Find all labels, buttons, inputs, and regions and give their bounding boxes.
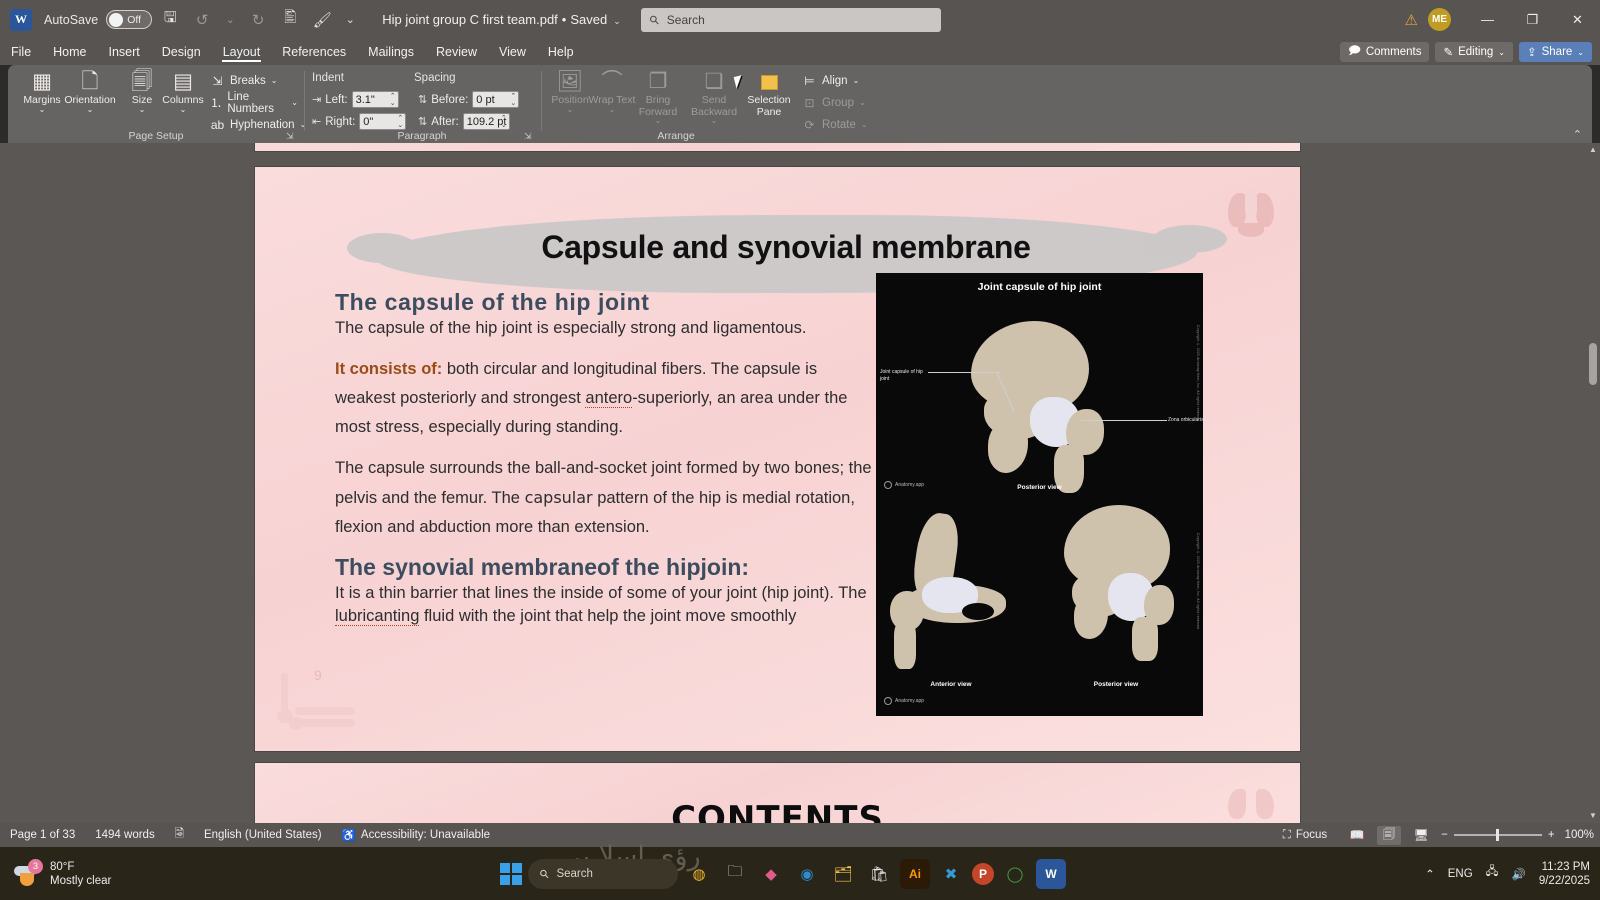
document-title[interactable]: Hip joint group C first team.pdf•Saved⌄ [382,12,621,27]
zoom-thumb[interactable] [1496,829,1499,841]
send-backward-icon: ❏ [705,69,724,95]
taskbar-search-placeholder: Search [556,868,592,880]
weather-temp: 80°F [50,860,111,874]
position-button[interactable]: 🖼 Position ⌄ [546,69,594,127]
saved-status: Saved [570,12,607,27]
scrollbar-thumb[interactable] [1589,343,1597,385]
language-indicator[interactable]: ENG [1448,868,1473,880]
web-layout-button[interactable]: 🖥 [1409,826,1433,845]
clock[interactable]: 11:23 PM 9/22/2025 [1539,860,1590,888]
orientation-chevron-down-icon: ⌄ [87,107,94,113]
folder-icon[interactable]: 🗂 [828,859,858,889]
undo-dropdown-icon[interactable]: ⌄ [220,6,240,34]
print-layout-button[interactable]: 🗐 [1377,826,1401,845]
proofing-errors-icon[interactable]: 🗟 [165,823,194,847]
status-page-info[interactable]: Page 1 of 33 [0,823,85,847]
document-canvas[interactable]: Capsule and synovial membrane The capsul… [0,143,1600,823]
leader-line-left [928,372,1000,373]
spacing-after-row: ⇅ After: 109.2 pt ⌃⌄ [418,113,510,130]
figure-title: Joint capsule of hip joint [876,281,1203,293]
vscode-icon[interactable]: ✖ [936,859,966,889]
tab-view[interactable]: View [488,39,537,65]
wrap-text-icon: ⌒ [602,69,623,95]
rotate-button[interactable]: ⟳ Rotate ⌄ [802,114,868,135]
clock-time: 11:23 PM [1539,860,1590,874]
accessibility-label: Accessibility: Unavailable [361,829,490,841]
weather-desc: Mostly clear [50,874,111,888]
indent-right-input[interactable]: 0" ⌃⌄ [359,113,406,130]
paragraph-4-text-b: fluid with the joint that help the joint… [419,607,796,625]
rotate-chevron-down-icon: ⌄ [861,120,868,129]
figure-caption-posterior-bottom: Posterior view [1056,681,1176,688]
tab-design[interactable]: Design [151,39,212,65]
spacing-header: Spacing [414,72,456,84]
size-chevron-down-icon: ⌄ [139,107,146,113]
network-icon[interactable]: 🖧 [1486,864,1499,883]
print-preview-icon[interactable]: 🖺 [276,6,304,34]
document-name: Hip joint group C first team.pdf [382,12,558,27]
paragraph-2-lead: It consists of: [335,360,442,378]
indent-left-value: 3.1" [356,94,375,106]
ribbon-group-paragraph: Indent Spacing ⇥ Left: 3.1" ⌃⌄ ⇤ Right: … [308,65,536,143]
tray-chevron-up-icon[interactable]: ⌃ [1425,867,1435,881]
hyphenation-label: Hyphenation [230,119,295,131]
tab-layout[interactable]: Layout [212,39,272,65]
chrome-icon[interactable]: ◯ [1000,859,1030,889]
editing-chevron-down-icon: ⌄ [1498,48,1505,57]
columns-icon: ▤ [173,69,193,95]
position-chevron-down-icon: ⌄ [567,107,574,113]
illustrator-icon[interactable]: Ai [900,859,930,889]
ribbon: ▦ Margins ⌄ 🗋 Orientation ⌄ 🗐 Size ⌄ ▤ C… [8,65,1592,143]
figure-brand-label-top: Anatomy.app [895,482,924,488]
comment-icon: 🗩 [1348,43,1361,62]
page-previous-bottom [255,143,1300,151]
line-numbers-label: Line Numbers [227,91,286,115]
group-label: Group [822,97,854,109]
spacing-after-input[interactable]: 109.2 pt ⌃⌄ [463,113,510,130]
undo-icon[interactable]: ↺ [188,6,216,34]
focus-button[interactable]: ⛶ Focus [1273,823,1337,847]
weather-text: 80°F Mostly clear [50,860,111,888]
ribbon-separator-1 [304,71,305,131]
orientation-icon: 🗋 [82,69,99,95]
share-chevron-down-icon: ⌄ [1577,48,1584,57]
focus-icon: ⛶ [1283,829,1291,842]
next-page-title: CONTENTS [255,799,1300,823]
figure-brand-top: Anatomy.app [884,481,924,489]
search-input[interactable]: ⚲ Search [641,8,941,32]
page-setup-group-label: Page Setup [14,130,298,142]
figure-label-joint-capsule: Joint capsule of hip joint [880,369,928,383]
autosave-state: Off [127,14,141,26]
indent-left-label: Left: [325,94,347,106]
figure-copyright-bottom: Copyright © 2023 Anatomy Next, Inc. All … [1196,533,1200,653]
paragraph-2: It consists of: both circular and longit… [335,355,880,442]
close-button[interactable]: ✕ [1555,0,1600,39]
indent-right-icon: ⇤ [312,115,321,128]
pelvis-decoration-next [1224,785,1278,823]
paragraph-group-label: Paragraph [308,130,536,142]
edge-icon[interactable]: ◉ [792,859,822,889]
weather-widget[interactable]: 3 80°F Mostly clear [14,860,111,888]
heading-synovial: The synovial membraneof the hipjoin: [335,554,880,581]
page-number: 9 [314,667,322,683]
page-current[interactable]: Capsule and synovial membrane The capsul… [255,167,1300,751]
focus-label: Focus [1296,829,1327,841]
document-body[interactable]: The capsule of the hip joint The capsule… [335,289,880,641]
indent-right-label: Right: [325,116,355,128]
widgets-icon[interactable]: ◍ [684,859,714,889]
weather-badge: 3 [28,859,43,874]
customize-quick-access-icon[interactable]: ⌄ [340,6,360,34]
align-label: Align [822,75,848,87]
margins-chevron-down-icon: ⌄ [39,107,46,113]
bring-forward-icon: ❐ [649,69,668,95]
group-chevron-down-icon: ⌄ [859,98,866,107]
editing-button[interactable]: ✎ Editing ⌄ [1435,42,1513,62]
weather-icon: 3 [14,861,42,887]
tab-insert[interactable]: Insert [98,39,151,65]
search-placeholder: Search [667,13,705,27]
page-next[interactable]: CONTENTS [255,763,1300,823]
indent-left-input[interactable]: 3.1" ⌃⌄ [352,91,399,108]
microsoft-store-icon[interactable]: 🛍 [864,859,894,889]
zoom-slider[interactable]: − + 100% [1441,829,1594,841]
comments-button[interactable]: 🗩 Comments [1340,42,1429,62]
indent-right-stepper[interactable]: ⌃⌄ [397,115,403,129]
spacing-before-stepper[interactable]: ⌃⌄ [510,93,516,107]
zoom-level[interactable]: 100% [1565,829,1594,841]
tab-row-actions: 🗩 Comments ✎ Editing ⌄ ⇪ Share ⌄ [1340,39,1592,65]
paragraph-1: The capsule of the hip joint is especial… [335,317,880,341]
rotate-icon: ⟳ [802,118,817,132]
redo-icon[interactable]: ↻ [244,6,272,34]
tab-references[interactable]: References [271,39,357,65]
ribbon-separator-2 [541,71,542,131]
paragraph-4-misspelled: lubricanting [335,607,419,626]
powerpoint-icon[interactable]: P [972,863,994,885]
search-icon: ⚲ [646,12,662,28]
paragraph-2-misspelled: antero [585,389,632,408]
ribbon-collapse-icon[interactable]: ⌃ [1573,128,1582,141]
share-label: Share [1542,46,1573,58]
warning-icon[interactable]: ⚠ [1405,11,1418,29]
paragraph-4-text-a: It is a thin barrier that lines the insi… [335,584,867,602]
spacing-after-label: After: [431,116,458,128]
format-painter-icon[interactable]: 🖌 [308,6,336,34]
wrap-text-button[interactable]: ⌒ Wrap Text ⌄ [588,69,636,127]
titlebar-right-controls: ⚠ ME — ❐ ✕ [1405,0,1600,39]
line-numbers-button[interactable]: ⒈ Line Numbers ⌄ [210,92,298,113]
figure-caption-anterior: Anterior view [896,681,1006,688]
line-numbers-chevron-down-icon: ⌄ [291,98,298,107]
spacing-before-icon: ⇅ [418,93,427,106]
indent-left-stepper[interactable]: ⌃⌄ [390,93,396,107]
share-button[interactable]: ⇪ Share ⌄ [1519,42,1592,62]
line-numbers-icon: ⒈ [210,94,222,111]
comments-label: Comments [1366,46,1422,58]
ribbon-group-arrange: 🖼 Position ⌄ ⌒ Wrap Text ⌄ ❐ Bring Forwa… [546,65,836,143]
editing-label: Editing [1458,46,1493,58]
status-bar-right: ⛶ Focus 📖 🗐 🖥 − + 100% [1273,823,1594,847]
bring-forward-chevron-down-icon: ⌄ [655,118,662,124]
copilot-icon[interactable]: ◆ [756,859,786,889]
paragraph-4: It is a thin barrier that lines the insi… [335,582,880,629]
femur-shaft-anterior [894,621,916,669]
rotate-label: Rotate [822,119,856,131]
autosave-toggle[interactable]: Off [106,10,152,29]
indent-right-row: ⇤ Right: 0" ⌃⌄ [312,113,406,130]
figure-copyright-top: Copyright © 2023 Anatomy Next, Inc. All … [1196,325,1200,445]
taskbar-search-icon: ⚲ [536,866,552,882]
page-number-decoration: 9 [269,665,359,727]
selection-pane-label: Selection Pane [742,95,796,118]
minimize-button[interactable]: — [1465,0,1510,39]
word-app-icon: W [10,9,32,31]
anatomy-figure[interactable]: Joint capsule of hip joint Joint capsule… [876,273,1203,716]
indent-left-icon: ⇥ [312,93,321,106]
obturator-foramen [962,603,994,620]
status-language[interactable]: English (United States) [194,823,332,847]
indent-right-value: 0" [363,116,373,128]
send-backward-label: Send Backward [686,95,742,118]
file-explorer-icon[interactable]: 🗀 [720,859,750,889]
indent-left-row: ⇥ Left: 3.1" ⌃⌄ [312,91,399,108]
spacing-before-value: 0 pt [476,94,494,106]
tab-mailings[interactable]: Mailings [357,39,425,65]
autosave-label: AutoSave [44,13,98,27]
breaks-button[interactable]: ⇲ Breaks ⌄ [210,70,278,91]
figure-brand-bottom: Anatomy.app [884,697,924,705]
align-button[interactable]: ⊨ Align ⌄ [802,70,859,91]
group-button[interactable]: ⊡ Group ⌄ [802,92,866,113]
clock-date: 9/22/2025 [1539,874,1590,888]
page-title: Capsule and synovial membrane [375,229,1197,266]
status-word-count[interactable]: 1494 words [85,823,164,847]
figure-caption-posterior-top: Posterior view [876,484,1203,491]
margins-icon: ▦ [32,69,52,95]
status-bar: Page 1 of 33 1494 words 🗟 English (Unite… [0,823,1600,847]
restore-button[interactable]: ❐ [1510,0,1555,39]
send-backward-chevron-down-icon: ⌄ [711,118,718,124]
vertical-scrollbar[interactable]: ▲ ▼ [1586,143,1600,823]
read-mode-button[interactable]: 📖 [1345,826,1369,845]
share-icon: ⇪ [1527,45,1537,59]
ribbon-tab-row: File Home Insert Design Layout Reference… [0,39,1600,65]
zoom-in-button[interactable]: + [1548,829,1555,841]
system-tray: ⌃ ENG 🖧 🔊 11:23 PM 9/22/2025 [1425,860,1590,888]
columns-button[interactable]: ▤ Columns ⌄ [159,69,207,127]
save-icon[interactable]: 🖫 [156,6,184,34]
columns-chevron-down-icon: ⌄ [180,107,187,113]
breaks-label: Breaks [230,75,266,87]
accessibility-icon: ♿ [342,828,356,842]
tab-home[interactable]: Home [42,39,97,65]
indent-header: Indent [312,72,344,84]
position-icon: 🖼 [557,69,584,95]
spacing-before-label: Before: [431,94,468,106]
taskbar: 3 80°F Mostly clear رؤي اسلا بي ⚲ Search… [0,847,1600,900]
ischium-top [988,421,1028,473]
wrap-text-chevron-down-icon: ⌄ [609,107,616,113]
status-accessibility[interactable]: ♿ Accessibility: Unavailable [332,823,500,847]
paragraph-dialog-launcher[interactable]: ⇲ [524,131,534,141]
orientation-button[interactable]: 🗋 Orientation ⌄ [66,69,114,127]
tab-review[interactable]: Review [425,39,488,65]
align-icon: ⊨ [802,74,817,88]
tab-file[interactable]: File [0,39,42,65]
selection-pane-button[interactable]: Selection Pane [742,69,796,127]
ischium-bottom [1074,595,1108,639]
leader-line-right [1081,420,1167,421]
taskbar-apps: ⚲ Search ◍ 🗀 ◆ ◉ 🗂 🛍 Ai ✖ P ◯ W [500,859,1066,889]
pencil-icon: ✎ [1443,45,1453,59]
group-icon: ⊡ [802,96,817,110]
ribbon-group-page-setup: ▦ Margins ⌄ 🗋 Orientation ⌄ 🗐 Size ⌄ ▤ C… [14,65,298,143]
breaks-chevron-down-icon: ⌄ [271,76,278,85]
align-chevron-down-icon: ⌄ [853,76,860,85]
avatar[interactable]: ME [1428,8,1451,31]
zoom-out-button[interactable]: − [1441,829,1448,841]
heading-capsule: The capsule of the hip joint [335,289,880,316]
spacing-after-icon: ⇅ [418,115,427,128]
autosave-knob [109,13,123,27]
word-icon[interactable]: W [1036,859,1066,889]
tab-help[interactable]: Help [537,39,585,65]
spacing-before-input[interactable]: 0 pt ⌃⌄ [472,91,519,108]
anatomy-app-logo-icon-bottom [884,697,892,705]
paragraph-3-alt-font: capsular [525,488,593,507]
anatomy-app-logo-icon [884,481,892,489]
scroll-down-icon[interactable]: ▼ [1586,809,1600,823]
figure-brand-label-bottom: Anatomy.app [895,698,924,704]
selection-pane-icon [761,69,778,95]
start-button[interactable] [500,863,522,885]
volume-icon[interactable]: 🔊 [1512,867,1526,881]
pelvis-decoration [1224,189,1278,239]
bring-forward-label: Bring Forward [630,95,686,118]
margins-button[interactable]: ▦ Margins ⌄ [18,69,66,127]
zoom-track[interactable] [1454,834,1542,836]
title-chevron-down-icon[interactable]: ⌄ [613,16,621,26]
title-separator: • [562,12,567,27]
bring-forward-button[interactable]: ❐ Bring Forward ⌄ [630,69,686,127]
size-icon: 🗐 [132,69,153,95]
title-bar: W AutoSave Off 🖫 ↺ ⌄ ↻ 🖺 🖌 ⌄ Hip joint g… [0,0,1600,39]
breaks-icon: ⇲ [210,74,225,88]
taskbar-search[interactable]: ⚲ Search [528,859,678,889]
figure-label-zona: Zona orbicularis [1168,417,1212,424]
arrange-group-label: Arrange [586,130,766,142]
hyphenation-chevron-down-icon: ⌄ [300,120,307,129]
page-setup-dialog-launcher[interactable]: ⇲ [286,131,296,141]
spacing-after-stepper[interactable]: ⌃⌄ [501,115,507,129]
spacing-before-row: ⇅ Before: 0 pt ⌃⌄ [418,91,519,108]
paragraph-3: The capsule surrounds the ball-and-socke… [335,454,880,542]
scroll-up-icon[interactable]: ▲ [1586,143,1600,157]
femur-shaft-bottom [1132,617,1158,661]
